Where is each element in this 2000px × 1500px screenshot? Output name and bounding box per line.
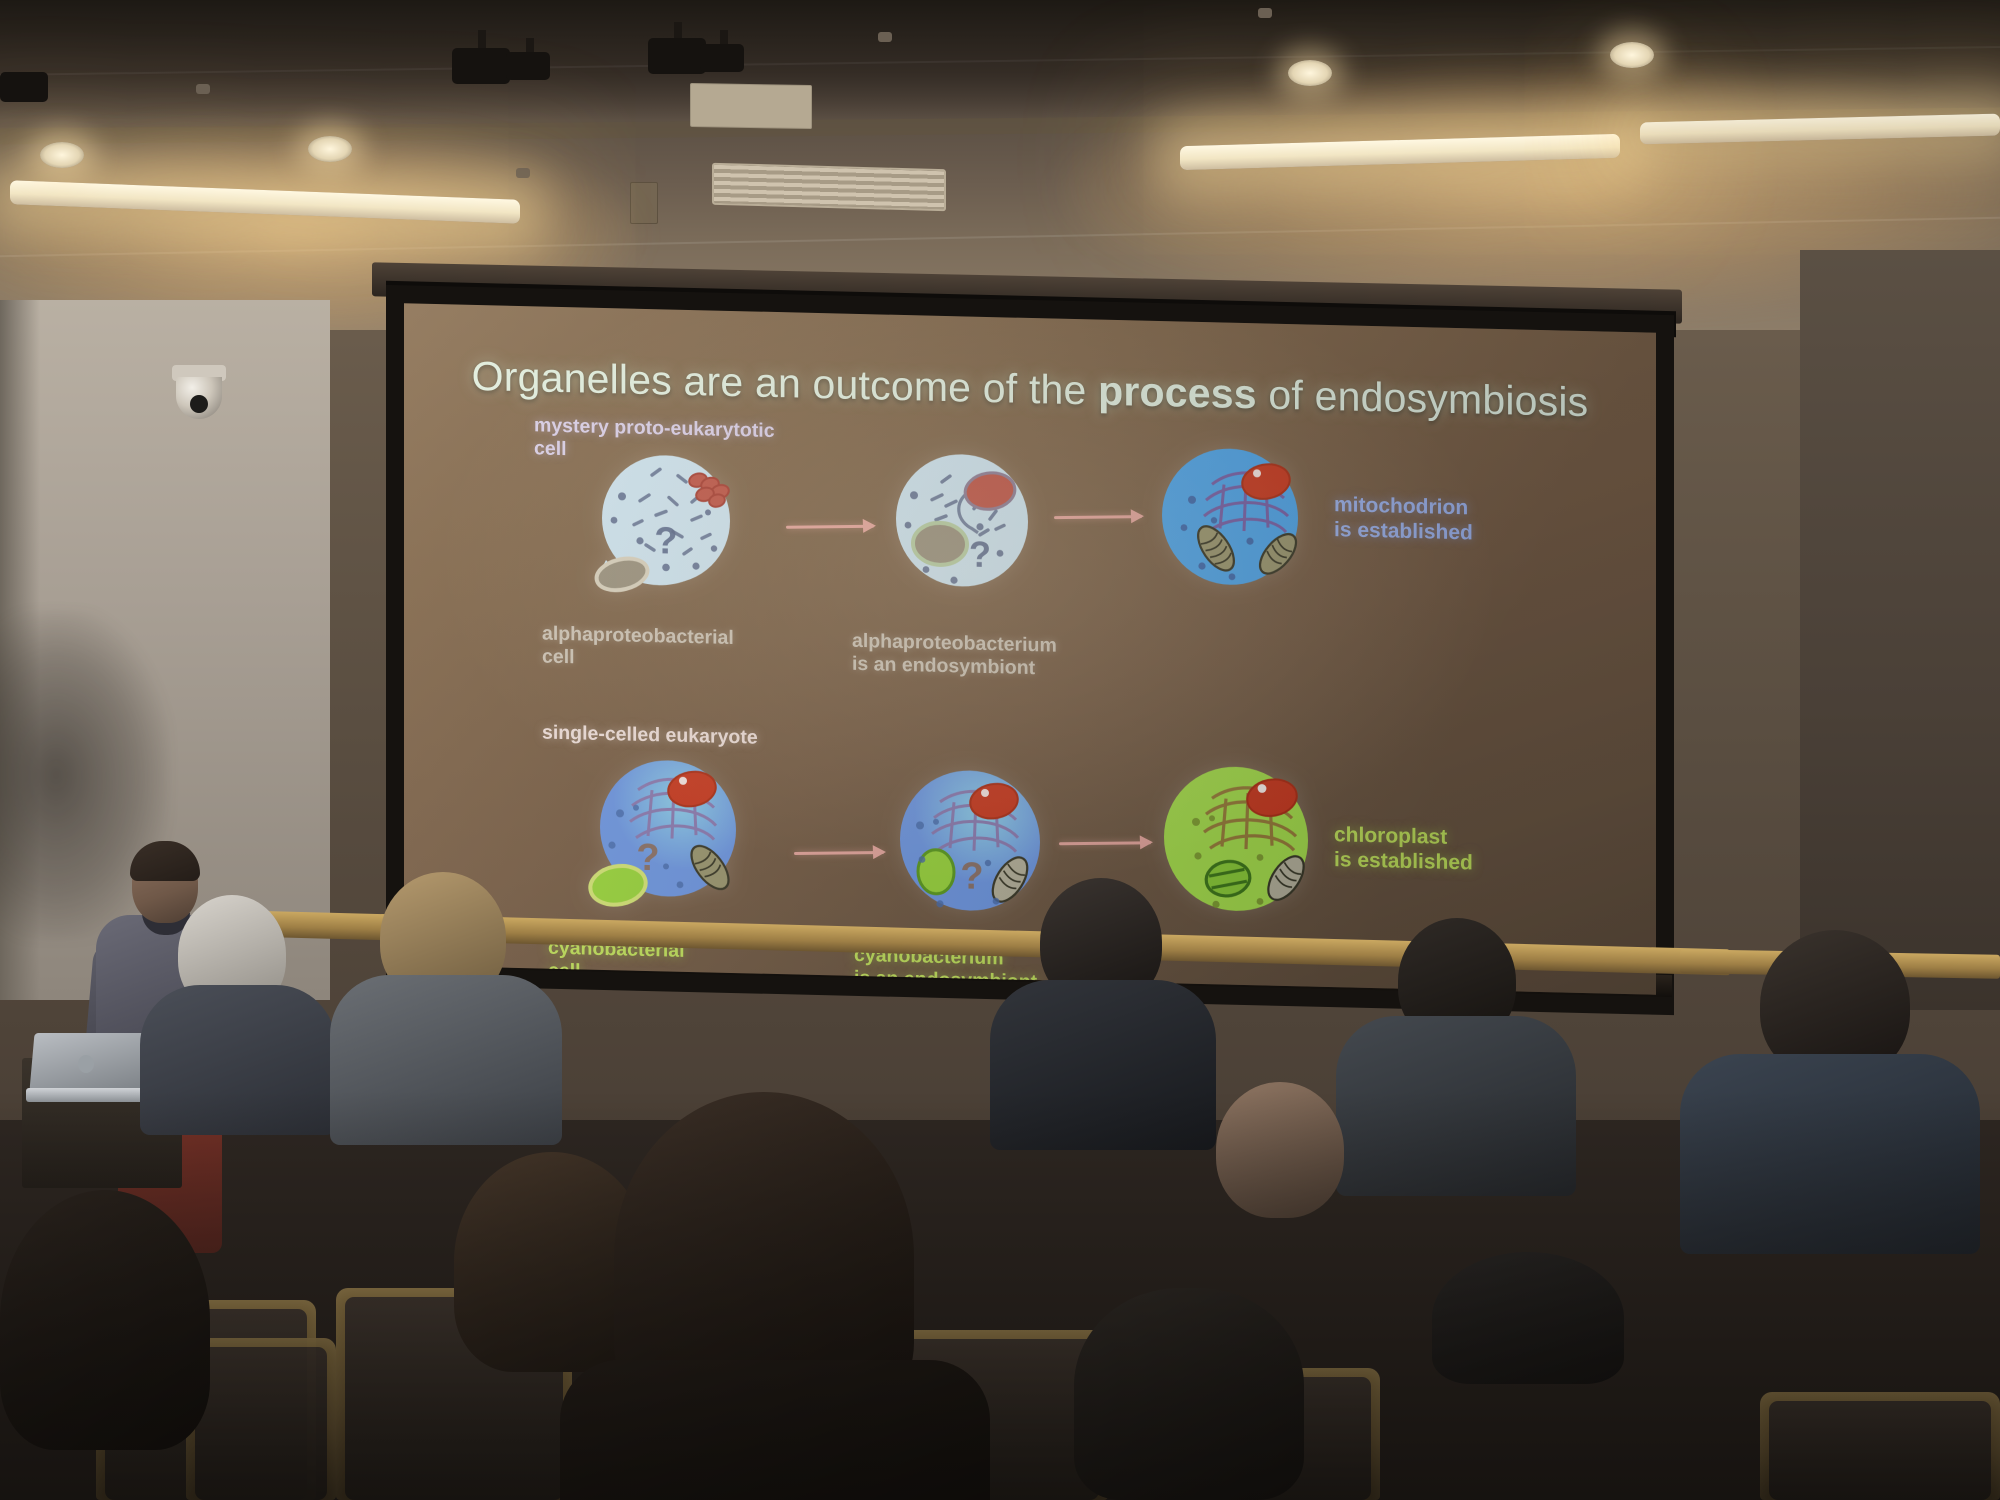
sprinkler-head (516, 168, 530, 178)
audience-head-foreground (1074, 1288, 1304, 1500)
audience-shoulders (560, 1360, 990, 1500)
security-camera-icon (168, 365, 230, 421)
recessed-downlight (40, 142, 84, 168)
audience-shoulders (990, 980, 1216, 1150)
ceiling-vent (712, 163, 946, 212)
right-wall (1800, 250, 2000, 1010)
seat-back (1760, 1392, 2000, 1500)
audience-shoulders (1336, 1016, 1576, 1196)
screen-lighting-overlay (404, 303, 1656, 995)
lecture-hall-photo: Organelles are an outcome of the process… (0, 0, 2000, 1500)
audience-shoulders (140, 985, 336, 1135)
wall-plate (630, 182, 658, 224)
audience-head (1216, 1082, 1344, 1218)
sprinkler-head (878, 32, 892, 42)
recessed-downlight (1610, 42, 1654, 68)
laptop-keyboard (26, 1088, 154, 1102)
sprinkler-head (196, 84, 210, 94)
ceiling-panel (690, 83, 812, 129)
laptop-logo (78, 1055, 94, 1073)
audience-shoulders (330, 975, 562, 1145)
sprinkler-head (1258, 8, 1272, 18)
audience-head-with-cap (1432, 1252, 1624, 1384)
recessed-downlight (1288, 60, 1332, 86)
recessed-downlight (308, 136, 352, 162)
audience-head-foreground (0, 1190, 210, 1450)
audience-shoulders (1680, 1054, 1980, 1254)
projection-screen: Organelles are an outcome of the process… (404, 303, 1656, 995)
